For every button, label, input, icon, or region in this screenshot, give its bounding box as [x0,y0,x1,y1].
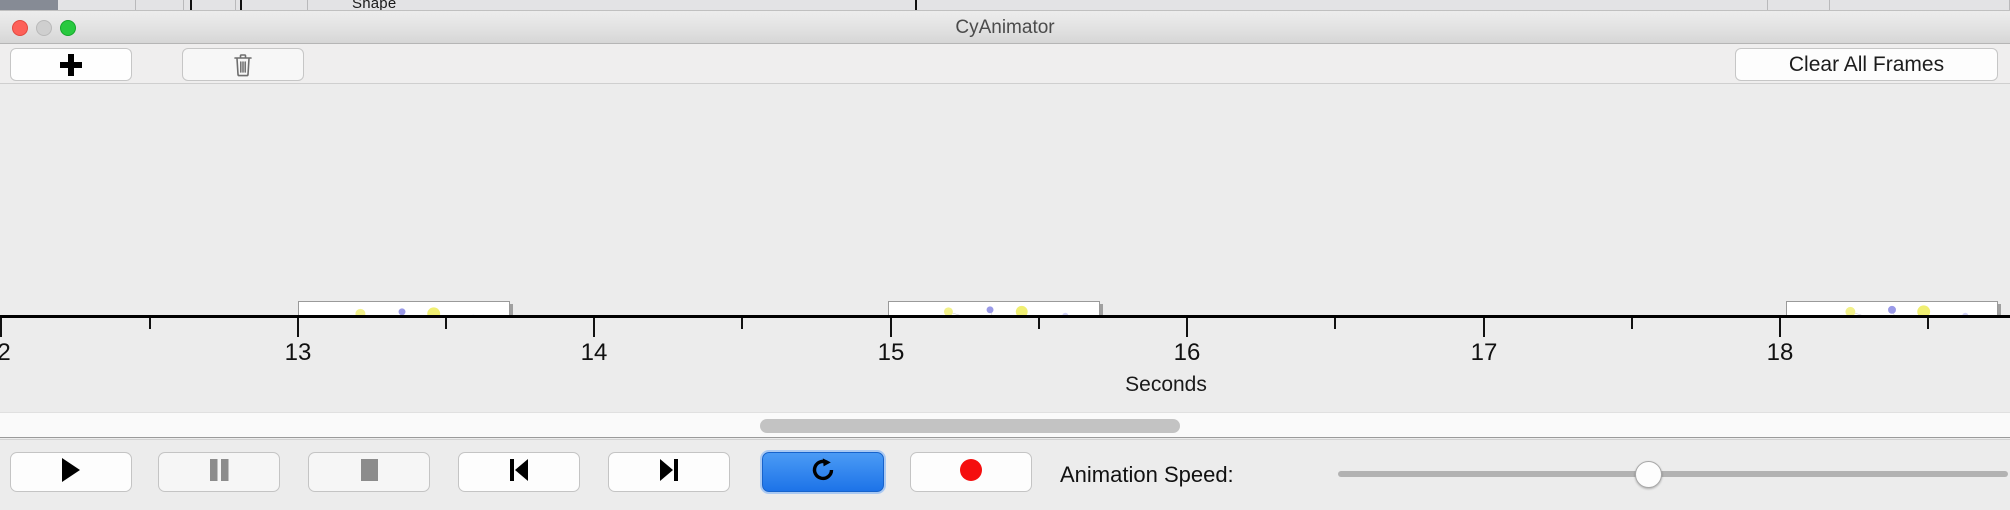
axis-tick-major [1186,318,1188,337]
pause-icon [206,456,232,489]
axis-tick-minor [741,318,743,329]
axis-tick-minor [445,318,447,329]
keyframe-thumbnail[interactable]: MCM1 [1786,301,1998,315]
animation-speed-slider[interactable] [1338,471,2008,477]
timeline-scrollbar[interactable] [0,412,2010,438]
skip-back-icon [506,456,532,489]
scrollbar-thumb[interactable] [760,419,1180,433]
timeline-canvas[interactable]: MCM1 [0,85,2010,315]
zoom-button-icon[interactable] [60,20,76,36]
axis-tick-major [297,318,299,337]
axis-tick-minor [1038,318,1040,329]
network-preview-3: MCM1 [1787,302,1997,315]
page-title: CyAnimator [0,11,2010,44]
cyanimator-window: Shape CyAnimator Clear All Frames [0,0,2010,510]
network-preview-1: MCM1 [299,302,509,315]
keyframe-thumbnail[interactable]: MCM1 [888,301,1100,315]
timeline-axis: 2 13 14 15 16 17 18 Seconds [0,315,2010,410]
axis-line [0,315,2010,318]
close-button-icon[interactable] [12,20,28,36]
add-frame-button[interactable] [10,48,132,81]
stop-button[interactable] [308,452,430,492]
minimize-button-icon[interactable] [36,20,52,36]
trash-icon [233,53,253,77]
axis-tick-label: 18 [1767,339,1794,367]
animation-speed-slider-thumb[interactable] [1635,461,1662,488]
title-bar[interactable]: CyAnimator [0,11,2010,44]
axis-tick-minor [1334,318,1336,329]
axis-tick-major [890,318,892,337]
pause-button[interactable] [158,452,280,492]
loop-icon [809,456,837,489]
playback-control-bar: Animation Speed: [0,439,2010,510]
clear-all-frames-button[interactable]: Clear All Frames [1735,48,1998,81]
play-icon [58,456,84,489]
skip-forward-button[interactable] [608,452,730,492]
axis-tick-minor [1631,318,1633,329]
network-preview-2: MCM1 [889,302,1099,315]
axis-title: Seconds [1125,373,1207,397]
record-button[interactable] [910,452,1032,492]
axis-tick-label: 2 [0,339,11,367]
axis-tick-major [1483,318,1485,337]
stop-icon [356,456,382,489]
axis-tick-major [1779,318,1781,337]
axis-tick-major [593,318,595,337]
plus-icon [58,52,84,78]
record-icon [958,457,984,488]
axis-tick-label: 16 [1174,339,1201,367]
axis-tick-label: 17 [1471,339,1498,367]
axis-tick-label: 14 [581,339,608,367]
skip-back-button[interactable] [458,452,580,492]
animation-speed-label: Animation Speed: [1060,462,1234,488]
skip-forward-icon [656,456,682,489]
keyframe-thumbnail[interactable]: MCM1 [298,301,510,315]
axis-tick-label: 13 [285,339,312,367]
play-button[interactable] [10,452,132,492]
axis-tick-major [0,318,2,337]
traffic-light-group [12,20,76,36]
loop-button[interactable] [762,452,884,492]
axis-tick-minor [1927,318,1929,329]
toolbar: Clear All Frames [0,44,2010,84]
axis-tick-label: 15 [878,339,905,367]
delete-frame-button[interactable] [182,48,304,81]
axis-tick-minor [149,318,151,329]
background-window-strip: Shape [0,0,2010,11]
